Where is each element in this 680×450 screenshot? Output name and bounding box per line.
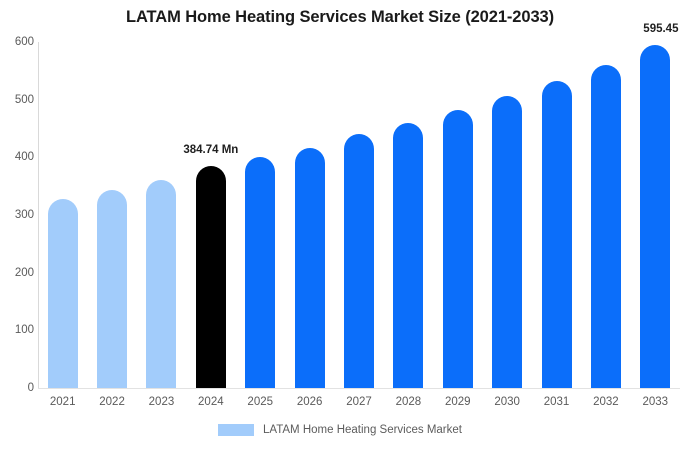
x-axis-tick-2032: 2032 <box>581 396 630 408</box>
bar-2032[interactable] <box>591 65 621 389</box>
legend-swatch-latam-home-heating-services-market <box>218 424 254 436</box>
x-axis-tick-2031: 2031 <box>532 396 581 408</box>
bar-2027[interactable] <box>344 134 374 388</box>
bar-2030[interactable] <box>492 96 522 388</box>
bar-2026[interactable] <box>295 148 325 388</box>
bar-2029[interactable] <box>443 110 473 388</box>
x-axis-tick-2027: 2027 <box>334 396 383 408</box>
bar-2025[interactable] <box>245 157 275 388</box>
x-axis-tick-2026: 2026 <box>285 396 334 408</box>
bar-2021[interactable] <box>48 199 78 388</box>
bar-2028[interactable] <box>393 123 423 388</box>
chart-container: LATAM Home Heating Services Market Size … <box>0 0 680 450</box>
bar-2022[interactable] <box>97 190 127 388</box>
legend-label-latam-home-heating-services-market: LATAM Home Heating Services Market <box>263 424 462 436</box>
bar-2031[interactable] <box>542 81 572 388</box>
x-axis-tick-2033: 2033 <box>631 396 680 408</box>
bar-value-label-2033: 595.45 Mn <box>643 23 680 35</box>
x-axis-tick-2024: 2024 <box>186 396 235 408</box>
bars-layer: 2021202220232024384.74 Mn202520262027202… <box>0 0 680 450</box>
x-axis-tick-2025: 2025 <box>236 396 285 408</box>
x-axis-tick-2030: 2030 <box>482 396 531 408</box>
x-axis-tick-2029: 2029 <box>433 396 482 408</box>
bar-2033[interactable] <box>640 45 670 388</box>
x-axis-tick-2022: 2022 <box>87 396 136 408</box>
chart-legend: LATAM Home Heating Services Market <box>0 424 680 436</box>
x-axis-tick-2023: 2023 <box>137 396 186 408</box>
x-axis-tick-2021: 2021 <box>38 396 87 408</box>
bar-value-label-2024: 384.74 Mn <box>161 144 260 156</box>
x-axis-tick-2028: 2028 <box>384 396 433 408</box>
bar-2023[interactable] <box>146 180 176 388</box>
bar-2024[interactable] <box>196 166 226 388</box>
